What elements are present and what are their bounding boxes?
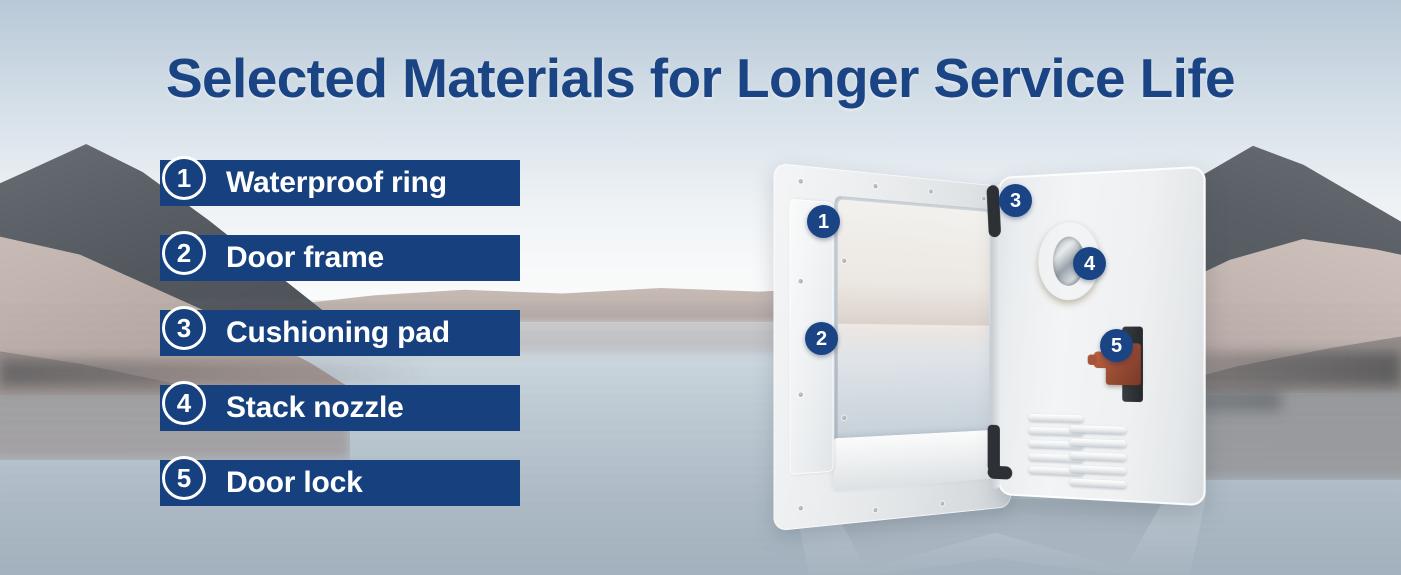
legend-badge-1: 1 [162,156,206,200]
screw-hole [982,196,986,200]
banner-stage: Selected Materials for Longer Service Li… [0,0,1401,575]
list-item[interactable]: 3 Cushioning pad [160,310,530,356]
list-item[interactable]: 5 Door lock [160,460,530,506]
vent-louvers [1029,414,1152,487]
legend-badge-5: 5 [162,456,206,500]
callout-stack-nozzle[interactable]: 4 [1073,247,1106,280]
screw-hole [842,258,846,263]
callout-waterproof-ring[interactable]: 1 [807,205,840,238]
list-item[interactable]: 1 Waterproof ring [160,160,530,206]
legend-badge-2: 2 [162,231,206,275]
screw-hole [798,179,802,184]
screw-hole [873,184,877,189]
callout-door-frame[interactable]: 2 [805,322,838,355]
screw-hole [798,279,802,284]
cushioning-pad-top [986,185,1001,238]
legend-label-5: Door lock [226,460,363,506]
list-item[interactable]: 4 Stack nozzle [160,385,530,431]
callout-cushioning-pad[interactable]: 3 [999,184,1032,217]
cushioning-pad-bottom [988,425,1000,475]
vent-column-right [1070,425,1127,495]
legend-badge-3: 3 [162,306,206,350]
legend-list: 1 Waterproof ring 2 Door frame 3 Cushion… [160,160,530,535]
callout-door-lock[interactable]: 5 [1100,329,1133,362]
product-image: 1 2 3 4 5 [755,165,1235,565]
legend-label-3: Cushioning pad [226,310,450,356]
door-lock-keyhole [1088,355,1097,365]
legend-label-2: Door frame [226,235,384,281]
legend-label-4: Stack nozzle [226,385,404,431]
door-frame-seethrough [838,199,989,459]
screw-hole [929,189,933,194]
legend-label-1: Waterproof ring [226,160,447,206]
page-title: Selected Materials for Longer Service Li… [0,46,1401,110]
list-item[interactable]: 2 Door frame [160,235,530,281]
legend-badge-4: 4 [162,381,206,425]
